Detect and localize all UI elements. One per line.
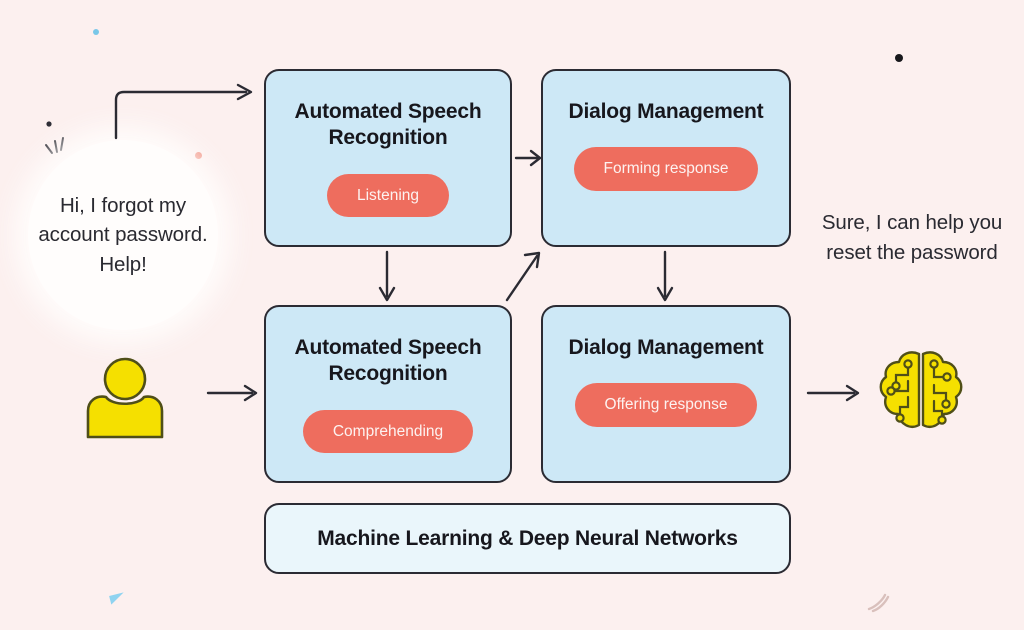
foundation-bar[interactable]: Machine Learning & Deep Neural Networks <box>264 503 791 574</box>
decorative-swoosh-icon <box>866 592 892 614</box>
decorative-blue-dot <box>93 29 99 35</box>
bot-answer-text: Sure, I can help you reset the password <box>808 208 1016 267</box>
stage-box-dialog-forming[interactable]: Dialog Management Forming response <box>541 69 791 247</box>
decorative-dark-dot <box>895 54 903 62</box>
status-badge[interactable]: Offering response <box>575 383 758 427</box>
connector-asr-to-dialog-arrow <box>514 145 544 171</box>
connector-dialog-down-arrow <box>650 250 680 304</box>
connector-asr-down-arrow <box>372 250 402 304</box>
status-badge[interactable]: Forming response <box>574 147 759 191</box>
user-avatar-icon <box>82 357 168 439</box>
stage-title: Automated Speech Recognition <box>266 99 510 152</box>
user-speech-bubble: Hi, I forgot my account password. Help! <box>28 140 218 330</box>
decorative-triangle-icon <box>109 592 126 604</box>
status-badge[interactable]: Listening <box>327 174 449 218</box>
stage-title: Dialog Management <box>569 335 764 361</box>
diagram-canvas: Hi, I forgot my account password. Help! <box>0 0 1024 630</box>
decorative-sparkle-icon <box>40 118 74 160</box>
user-message-text: Hi, I forgot my account password. Help! <box>28 191 218 278</box>
connector-user-input-arrow <box>206 380 260 406</box>
connector-bot-output-arrow <box>806 380 862 406</box>
decorative-coral-dot <box>195 152 202 159</box>
connector-diagonal-up-arrow <box>503 250 545 304</box>
stage-title: Automated Speech Recognition <box>266 335 510 388</box>
ai-brain-circuit-icon <box>874 345 968 439</box>
stage-title: Dialog Management <box>569 99 764 125</box>
stage-box-asr-listening[interactable]: Automated Speech Recognition Listening <box>264 69 512 247</box>
foundation-bar-label: Machine Learning & Deep Neural Networks <box>317 527 737 551</box>
stage-box-dialog-offering[interactable]: Dialog Management Offering response <box>541 305 791 483</box>
connector-input-elbow-arrow <box>110 84 260 140</box>
status-badge[interactable]: Comprehending <box>303 410 473 454</box>
stage-box-asr-comprehending[interactable]: Automated Speech Recognition Comprehendi… <box>264 305 512 483</box>
